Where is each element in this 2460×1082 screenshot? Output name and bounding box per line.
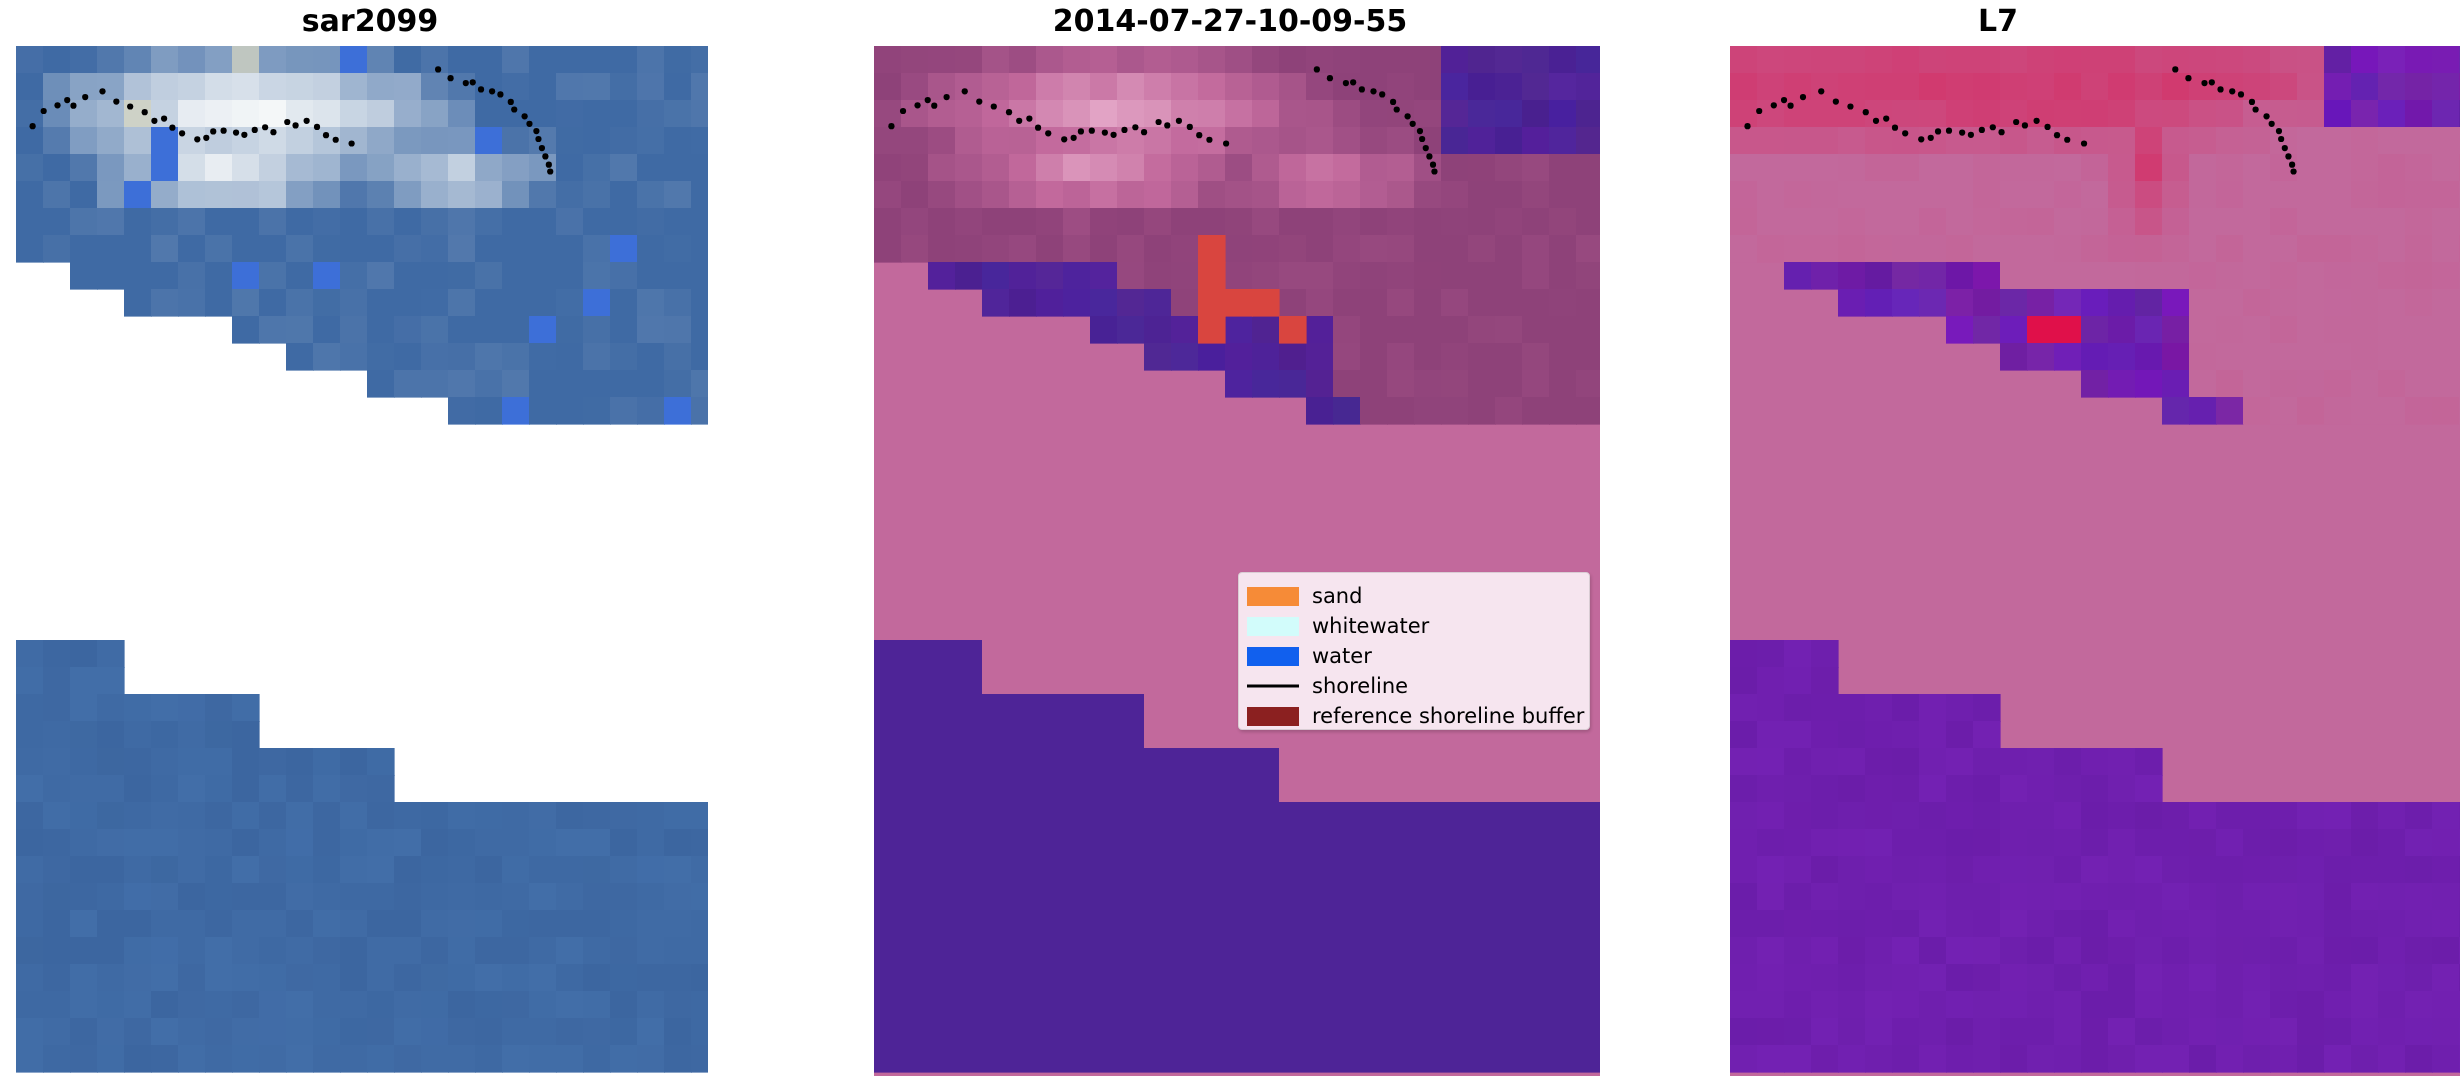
legend-item-water: water <box>1247 641 1579 671</box>
panel-title-l7: L7 <box>1720 4 2276 39</box>
legend-label-whitewater: whitewater <box>1312 616 1429 637</box>
legend-item-reference-shoreline-buffer: reference shoreline buffer <box>1247 701 1579 731</box>
raster-image-date <box>874 46 1600 1076</box>
panel-title-sar2099: sar2099 <box>0 4 740 39</box>
axes-image-date <box>874 46 1600 1076</box>
panel-sar2099: sar2099 <box>0 0 740 1082</box>
panel-l7: L7 <box>1720 0 2460 1082</box>
legend-item-whitewater: whitewater <box>1247 611 1579 641</box>
shoreline-line-icon <box>1247 677 1299 696</box>
reference-shoreline-buffer-swatch-icon <box>1247 707 1299 726</box>
raster-sar2099 <box>16 46 708 1076</box>
legend: sand whitewater water shoreline referenc… <box>1238 572 1590 730</box>
legend-label-sand: sand <box>1312 586 1362 607</box>
legend-label-shoreline: shoreline <box>1312 676 1408 697</box>
water-swatch-icon <box>1247 647 1299 666</box>
figure-canvas: sar2099 2014-07-27-10-09-55 sand whitewa… <box>0 0 2460 1082</box>
sand-swatch-icon <box>1247 587 1299 606</box>
legend-label-water: water <box>1312 646 1372 667</box>
panel-title-image-date: 2014-07-27-10-09-55 <box>860 4 1600 39</box>
whitewater-swatch-icon <box>1247 617 1299 636</box>
raster-l7 <box>1730 46 2460 1076</box>
legend-item-shoreline: shoreline <box>1247 671 1579 701</box>
legend-item-sand: sand <box>1247 581 1579 611</box>
axes-sar2099 <box>16 46 708 1076</box>
axes-l7 <box>1730 46 2460 1076</box>
legend-label-reference-shoreline-buffer: reference shoreline buffer <box>1312 706 1584 727</box>
panel-image-date: 2014-07-27-10-09-55 sand whitewater wate… <box>860 0 1600 1082</box>
